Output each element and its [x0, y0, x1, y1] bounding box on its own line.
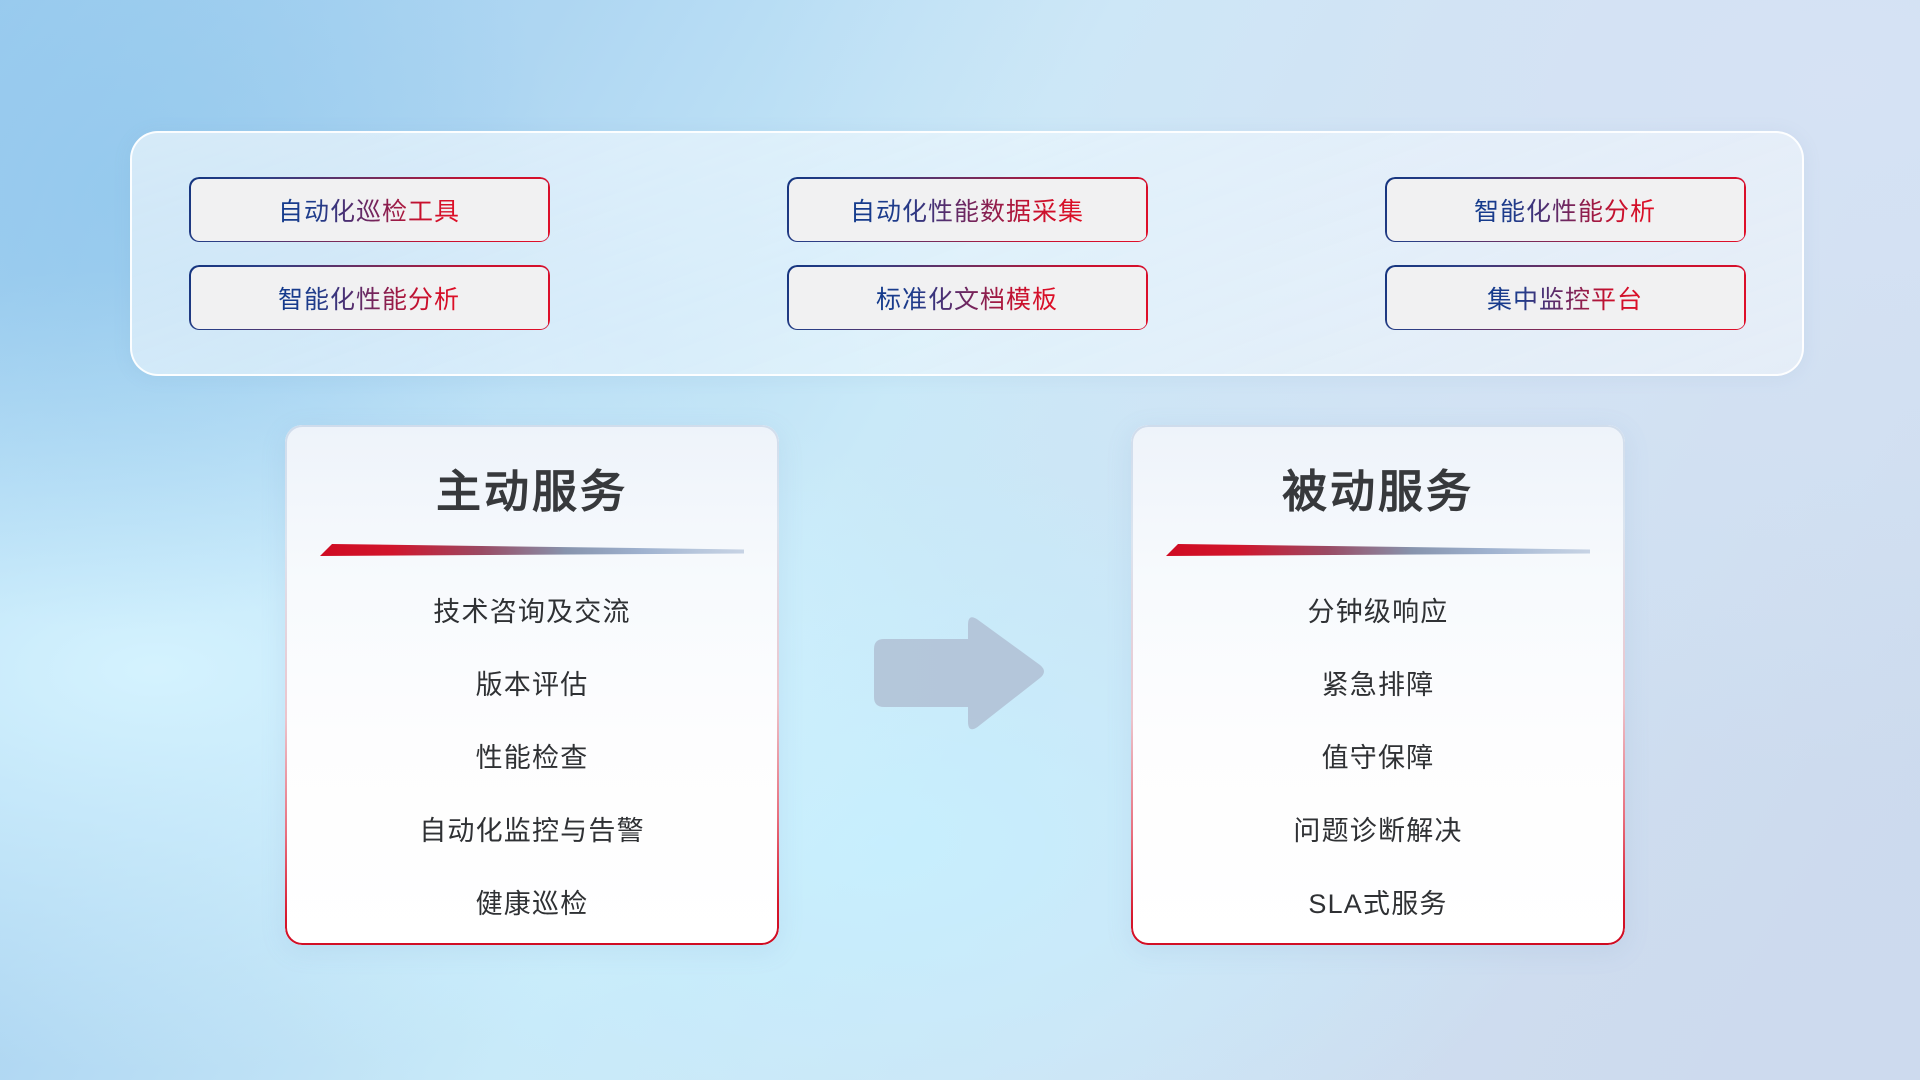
service-item-list: 分钟级响应 紧急排障 值守保障 问题诊断解决 SLA式服务	[1131, 590, 1625, 921]
service-item: SLA式服务	[1308, 882, 1447, 921]
capability-pill-label: 智能化性能分析	[278, 280, 460, 316]
service-card-reactive[interactable]: 被动服务 分钟级响应 紧急排障 值守保障 问题诊断解决 SLA式服务	[1131, 425, 1625, 945]
title-divider	[320, 544, 744, 556]
service-card-title: 主动服务	[436, 455, 628, 520]
capability-row-2: 智能化性能分析 标准化文档模板 集中监控平台	[190, 267, 1744, 329]
title-divider	[1166, 544, 1590, 556]
service-item: 技术咨询及交流	[433, 590, 630, 629]
capabilities-panel: 自动化巡检工具 自动化性能数据采集 智能化性能分析 智能化性能分析 标准化文档模…	[130, 131, 1804, 376]
service-item: 问题诊断解决	[1293, 809, 1462, 848]
title-divider-bar	[1166, 544, 1590, 556]
capability-row-1: 自动化巡检工具 自动化性能数据采集 智能化性能分析	[190, 179, 1744, 241]
service-item: 分钟级响应	[1308, 590, 1449, 629]
capability-pill-label: 自动化性能数据采集	[850, 192, 1084, 228]
service-item-list: 技术咨询及交流 版本评估 性能检查 自动化监控与告警 健康巡检	[285, 590, 779, 921]
capability-pill-standardized-doc-template[interactable]: 标准化文档模板	[788, 267, 1146, 329]
service-card-title: 被动服务	[1282, 455, 1474, 520]
service-item: 健康巡检	[476, 882, 589, 921]
capability-pill-label: 自动化巡检工具	[278, 192, 460, 228]
title-divider-bar	[320, 544, 744, 556]
capability-pill-intelligent-performance-analysis-a[interactable]: 智能化性能分析	[1386, 179, 1744, 241]
service-card-proactive[interactable]: 主动服务 技术咨询及交流 版本评估 性能检查 自动化监控与告警 健康巡检	[285, 425, 779, 945]
arrow-right-icon	[866, 611, 1046, 735]
capability-pill-label: 智能化性能分析	[1474, 192, 1656, 228]
service-item: 版本评估	[476, 663, 589, 702]
service-card-body: 主动服务 技术咨询及交流 版本评估 性能检查 自动化监控与告警 健康巡检	[285, 425, 779, 945]
service-item: 性能检查	[476, 736, 589, 775]
capability-pill-automated-inspection-tool[interactable]: 自动化巡检工具	[190, 179, 548, 241]
service-item: 紧急排障	[1322, 663, 1435, 702]
capability-pill-automated-performance-data-collection[interactable]: 自动化性能数据采集	[788, 179, 1146, 241]
service-item: 值守保障	[1322, 736, 1435, 775]
capability-pill-centralized-monitoring-platform[interactable]: 集中监控平台	[1386, 267, 1744, 329]
capability-pill-intelligent-performance-analysis-b[interactable]: 智能化性能分析	[190, 267, 548, 329]
service-item: 自动化监控与告警	[419, 809, 645, 848]
service-card-body: 被动服务 分钟级响应 紧急排障 值守保障 问题诊断解决 SLA式服务	[1131, 425, 1625, 945]
capability-pill-label: 集中监控平台	[1487, 280, 1643, 316]
capability-pill-label: 标准化文档模板	[876, 280, 1058, 316]
